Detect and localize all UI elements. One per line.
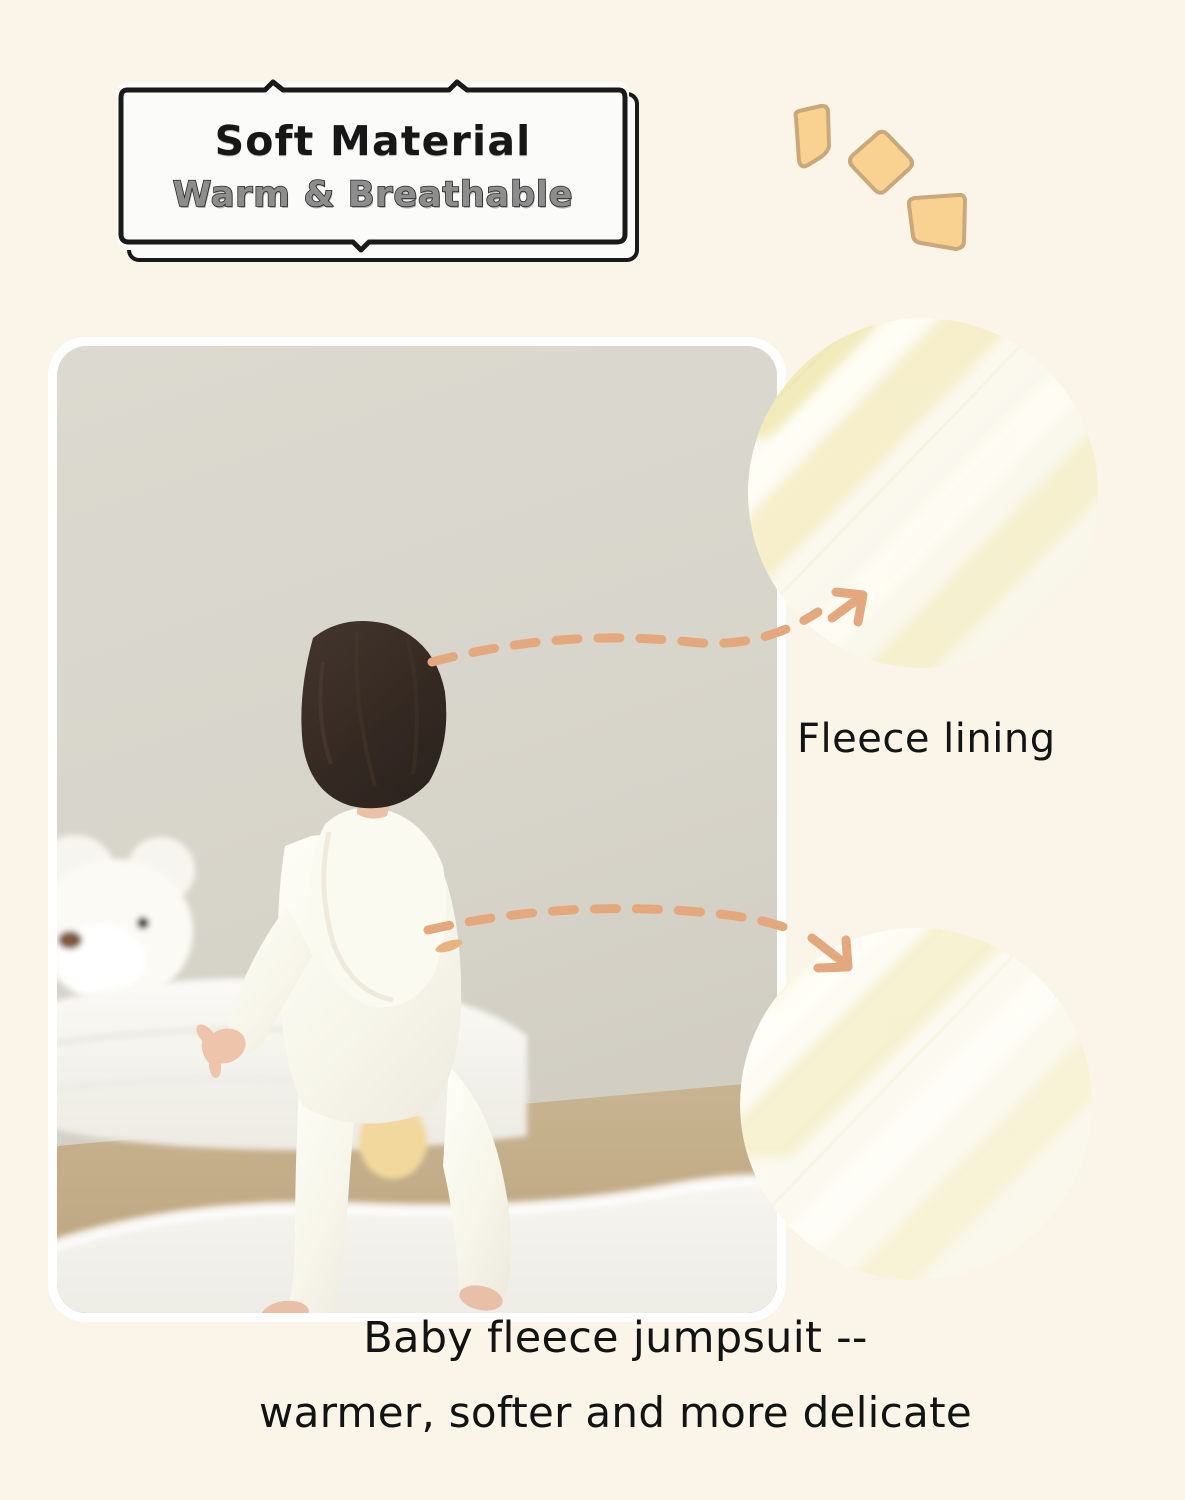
fabric-swatch-lower (740, 928, 1092, 1280)
product-caption: Baby fleece jumpsuit -- warmer, softer a… (0, 1316, 1185, 1435)
caption-line-2: warmer, softer and more delicate (0, 1391, 1185, 1435)
fleece-lining-label: Fleece lining (797, 716, 1056, 762)
infographic-canvas: Soft Material Warm & Breathable (0, 0, 1185, 1500)
confetti-shape-1 (795, 106, 829, 166)
banner-title: Soft Material (215, 121, 532, 162)
caption-line-1: Baby fleece jumpsuit -- (0, 1316, 1185, 1361)
confetti-decoration-group (770, 95, 1000, 270)
banner-subtitle: Warm & Breathable (173, 178, 574, 213)
confetti-shape-3 (909, 195, 965, 249)
confetti-shape-2 (850, 132, 912, 193)
product-photo-card (48, 337, 786, 1322)
product-photo (57, 346, 777, 1313)
fabric-swatch-fleece-lining (748, 318, 1098, 668)
banner-front-plate: Soft Material Warm & Breathable (117, 82, 629, 250)
header-banner: Soft Material Warm & Breathable (117, 82, 639, 262)
